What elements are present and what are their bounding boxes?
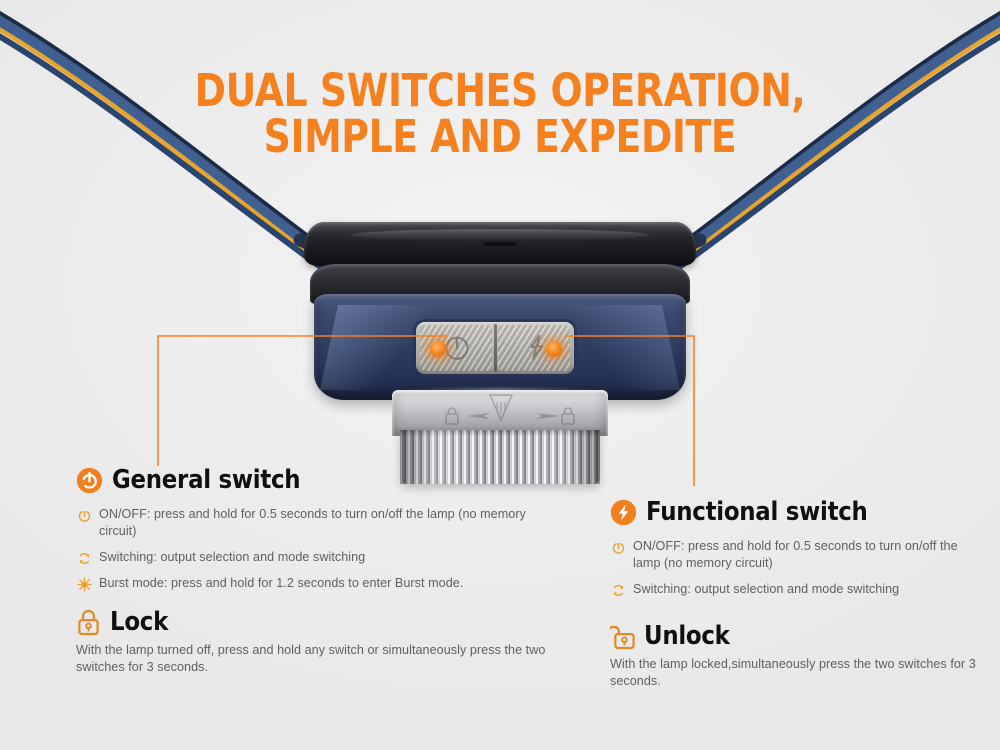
bullet-text: Burst mode: press and hold for 1.2 secon… [99, 575, 463, 592]
bezel-etch-beam-icon [486, 392, 516, 426]
cycle-icon [77, 551, 92, 566]
padlock-closed-icon [76, 609, 101, 636]
bullet-item: Burst mode: press and hold for 1.2 secon… [77, 575, 546, 592]
cycle-icon [611, 583, 626, 598]
functional-switch-heading: Functional switch [610, 498, 980, 526]
unlock-title: Unlock [644, 622, 730, 650]
page-title: DUAL SWITCHES OPERATION, SIMPLE AND EXPE… [0, 68, 1000, 160]
general-switch-led [430, 341, 446, 357]
power-icon [611, 540, 626, 555]
burst-icon [77, 577, 92, 592]
strap-slot [484, 242, 515, 246]
bezel-etch-lock2-icon [556, 404, 580, 428]
bullet-text: ON/OFF: press and hold for 0.5 seconds t… [99, 506, 546, 540]
general-switch-title: General switch [112, 466, 300, 494]
power-icon [77, 508, 92, 523]
title-line-2: SIMPLE AND EXPEDITE [80, 114, 920, 160]
bullet-text: Switching: output selection and mode swi… [99, 549, 365, 566]
body-sheen-right [565, 305, 680, 390]
bullet-item: ON/OFF: press and hold for 0.5 seconds t… [611, 538, 980, 572]
power-glyph-icon [442, 332, 472, 362]
bullet-item: Switching: output selection and mode swi… [611, 581, 980, 598]
switch-divider [494, 324, 497, 372]
title-line-1: DUAL SWITCHES OPERATION, [80, 68, 920, 114]
bullet-text: ON/OFF: press and hold for 0.5 seconds t… [633, 538, 980, 572]
unlock-section: Unlock With the lamp locked,simultaneous… [610, 622, 980, 690]
lock-section: Lock With the lamp turned off, press and… [76, 608, 546, 676]
general-switch-heading: General switch [76, 466, 546, 494]
functional-switch-title: Functional switch [646, 498, 868, 526]
functional-switch-section: Functional switch ON/OFF: press and hold… [610, 498, 980, 690]
bullet-item: ON/OFF: press and hold for 0.5 seconds t… [77, 506, 546, 540]
unlock-description: With the lamp locked,simultaneously pres… [610, 656, 980, 690]
functional-switch-led [546, 341, 562, 357]
bullet-text: Switching: output selection and mode swi… [633, 581, 899, 598]
lock-heading: Lock [76, 608, 546, 636]
switch-panel [416, 322, 574, 374]
padlock-open-icon [610, 623, 635, 650]
power-circle-icon [76, 467, 103, 494]
unlock-heading: Unlock [610, 622, 980, 650]
lamp-top-bracket [304, 222, 696, 266]
functional-switch-bullets: ON/OFF: press and hold for 0.5 seconds t… [611, 538, 980, 598]
lock-title: Lock [110, 608, 168, 636]
lightning-circle-icon [610, 499, 637, 526]
lock-description: With the lamp turned off, press and hold… [76, 642, 546, 676]
general-switch-bullets: ON/OFF: press and hold for 0.5 seconds t… [77, 506, 546, 592]
bezel-etch-lock-icon [440, 404, 464, 428]
infographic-stage: DUAL SWITCHES OPERATION, SIMPLE AND EXPE… [0, 0, 1000, 750]
bullet-item: Switching: output selection and mode swi… [77, 549, 546, 566]
headlamp-product-image [296, 222, 704, 490]
general-switch-section: General switch ON/OFF: press and hold fo… [76, 466, 546, 676]
